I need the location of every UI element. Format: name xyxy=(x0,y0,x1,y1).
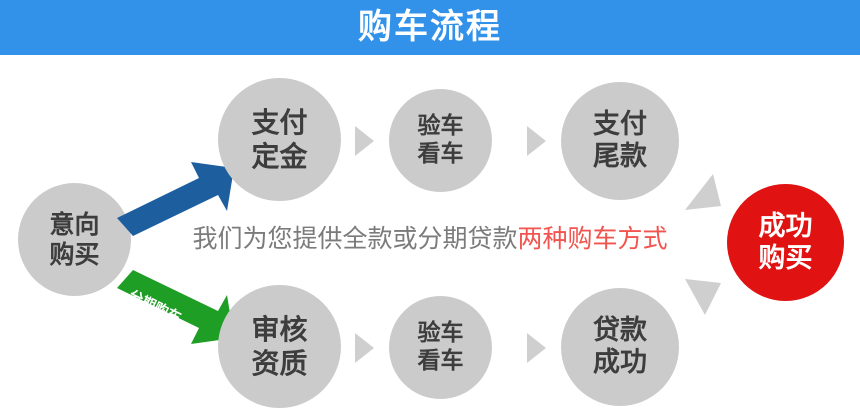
node-label-line2: 成功 xyxy=(593,347,647,379)
node-label-line2: 看车 xyxy=(418,141,464,168)
connector-triangle-right-icon xyxy=(527,333,546,363)
node-label-line1: 验车 xyxy=(418,113,464,140)
connector-triangle-right-icon xyxy=(527,126,546,156)
node-label-line1: 支付 xyxy=(251,106,307,139)
node-label-line1: 支付 xyxy=(593,109,647,141)
node-label-line1: 贷款 xyxy=(593,315,647,347)
connector-triangle-right-icon xyxy=(355,333,374,363)
node-label-line1: 验车 xyxy=(418,320,464,347)
node-label-line2: 定金 xyxy=(251,140,307,173)
flowchart-page: 购车流程 意向 购买 全款购车 分期购车 支付 定金 验车 看车 支付 尾款 审… xyxy=(0,0,860,412)
page-header: 购车流程 xyxy=(0,0,860,55)
node-label-line1: 审核 xyxy=(251,313,307,346)
node-label-line2: 看车 xyxy=(418,348,464,375)
connector-triangle-up-right-icon xyxy=(683,275,725,317)
center-caption: 我们为您提供全款或分期贷款两种购车方式 xyxy=(0,222,860,256)
page-title: 购车流程 xyxy=(0,0,860,55)
node-pay-balance[interactable]: 支付 尾款 xyxy=(561,82,679,200)
node-pay-deposit[interactable]: 支付 定金 xyxy=(218,78,341,201)
node-label-line2: 尾款 xyxy=(593,141,647,173)
node-inspect-car-bottom[interactable]: 验车 看车 xyxy=(389,296,492,399)
connector-triangle-right-icon xyxy=(355,126,374,156)
node-loan-approved[interactable]: 贷款 成功 xyxy=(561,288,679,406)
node-inspect-car-top[interactable]: 验车 看车 xyxy=(389,89,492,192)
node-label-line2: 资质 xyxy=(251,347,307,380)
caption-plain-text: 我们为您提供全款或分期贷款 xyxy=(192,224,517,253)
connector-triangle-down-right-icon xyxy=(683,172,725,214)
node-review-qualification[interactable]: 审核 资质 xyxy=(218,285,341,408)
caption-highlight-text: 两种购车方式 xyxy=(518,224,668,253)
